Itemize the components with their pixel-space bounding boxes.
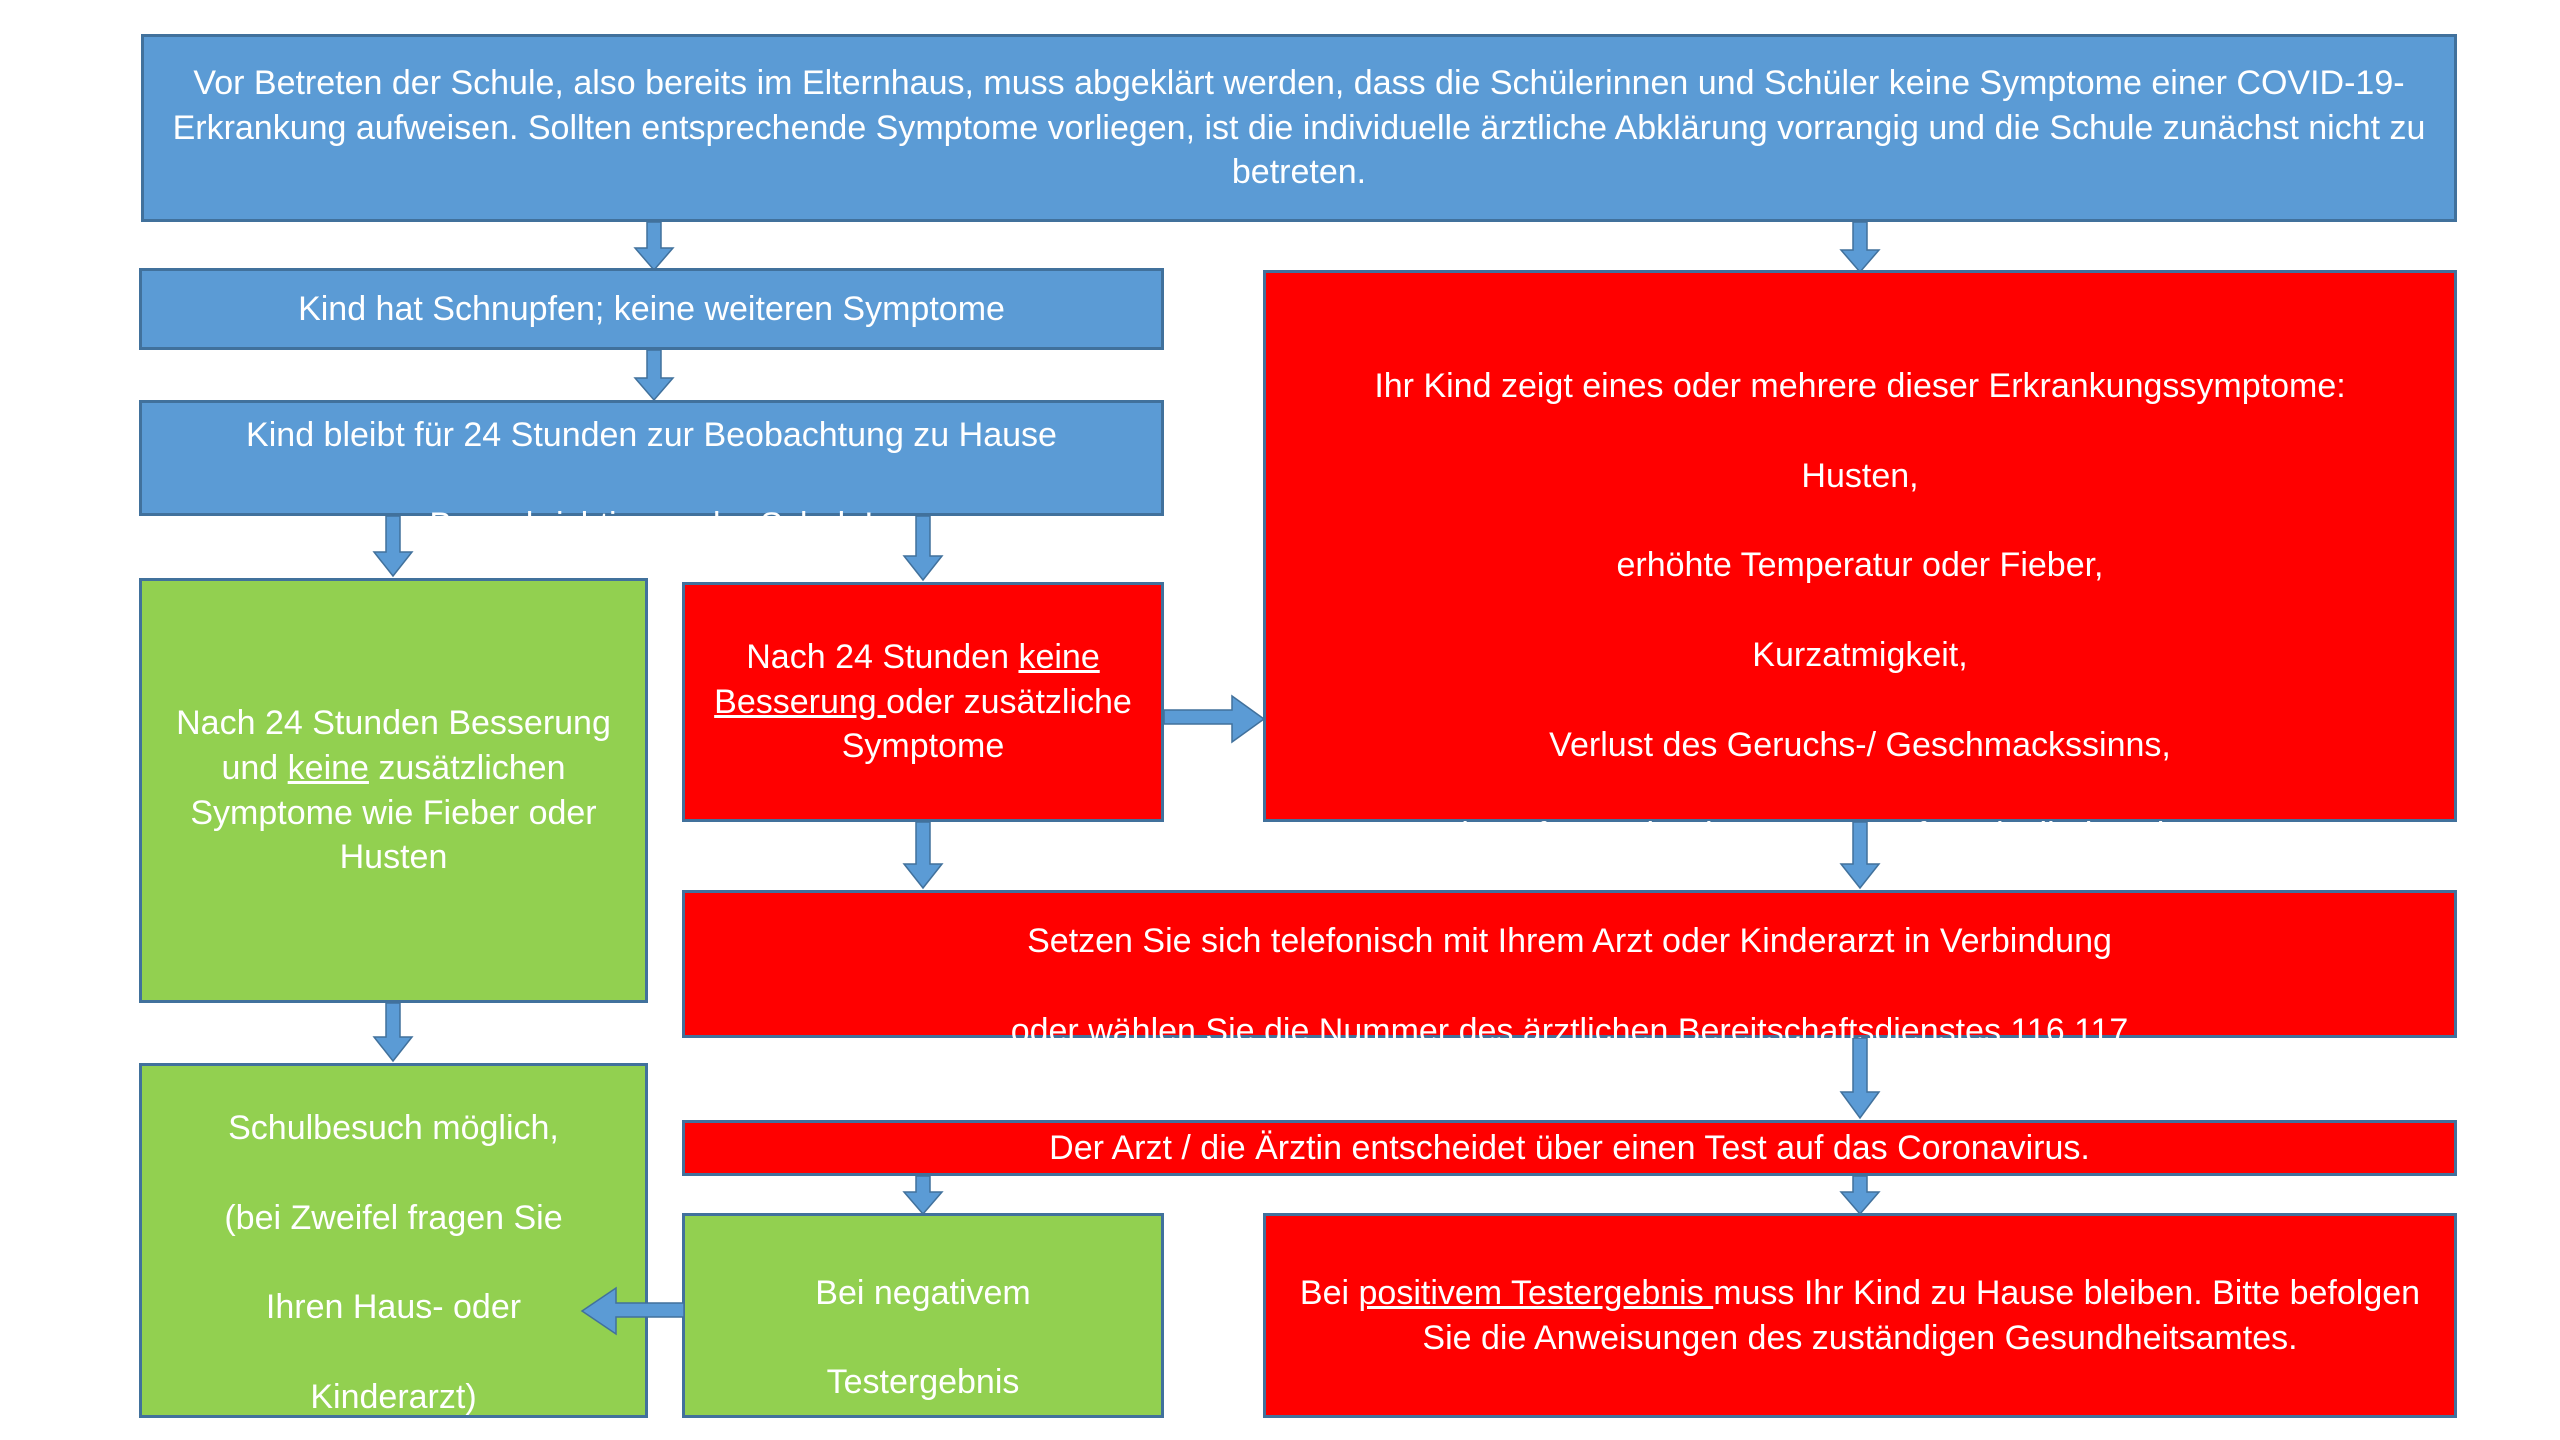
positiv-part1: Bei <box>1300 1274 1359 1312</box>
arzt-kontakt-line1: Setzen Sie sich telefonisch mit Ihrem Ar… <box>1027 922 2112 960</box>
node-besserung-keine-symptome: Nach 24 Stunden Besserung und keine zusä… <box>139 578 648 1003</box>
node-arzt-entscheidet-text: Der Arzt / die Ärztin entscheidet über e… <box>699 1126 2440 1171</box>
node-keine-besserung: Nach 24 Stunden keine Besserung oder zus… <box>682 582 1164 822</box>
arzt-kontakt-line2: oder wählen Sie die Nummer des ärztliche… <box>1011 1012 2129 1050</box>
node-arzt-kontakt-text: Setzen Sie sich telefonisch mit Ihrem Ar… <box>699 874 2440 1054</box>
symptome-item-2: Kurzatmigkeit, <box>1752 636 1967 674</box>
arrow-intro-to-symptome <box>1834 222 1886 274</box>
arrow-zuhause24-to-keine-besserung <box>897 516 949 582</box>
symptome-item-1: erhöhte Temperatur oder Fieber, <box>1617 546 2104 584</box>
arrow-intro-to-schnupfen <box>628 222 680 272</box>
zuhause24-line2: Benachrichtigung der Schule! <box>429 506 873 544</box>
keine-besserung-part2: oder zusätzliche Symptome <box>842 683 1132 766</box>
flowchart-canvas: Vor Betreten der Schule, also bereits im… <box>0 0 2560 1440</box>
node-bei-negativem-testergebnis-text: Bei negativem Testergebnis <box>699 1226 1147 1406</box>
arrow-arzt-entscheidet-to-negativ <box>897 1176 949 1216</box>
node-bei-negativem-testergebnis: Bei negativem Testergebnis <box>682 1213 1164 1418</box>
schulbesuch-line4: Kinderarzt) <box>310 1378 476 1416</box>
arrow-besserung-gruen-to-schulbesuch <box>367 1003 419 1063</box>
arrow-arzt-kontakt-to-arzt-entscheidet <box>1834 1038 1886 1120</box>
schulbesuch-line1: Schulbesuch möglich, <box>228 1109 559 1147</box>
positiv-underlined: positivem Testergebnis <box>1359 1274 1714 1312</box>
symptome-heading: Ihr Kind zeigt eines oder mehrere dieser… <box>1374 367 2345 405</box>
symptome-item-0: Husten, <box>1801 457 1918 495</box>
node-erkrankungssymptome: Ihr Kind zeigt eines oder mehrere dieser… <box>1263 270 2457 822</box>
node-bei-positivem-testergebnis: Bei positivem Testergebnis muss Ihr Kind… <box>1263 1213 2457 1418</box>
node-schulbesuch-moeglich-text: Schulbesuch möglich, (bei Zweifel fragen… <box>156 1061 631 1420</box>
zuhause24-line1: Kind bleibt für 24 Stunden zur Beobachtu… <box>246 416 1057 454</box>
node-bei-positivem-testergebnis-text: Bei positivem Testergebnis muss Ihr Kind… <box>1280 1271 2440 1361</box>
keine-besserung-part1: Nach 24 Stunden <box>746 638 1018 676</box>
arrow-arzt-entscheidet-to-positiv <box>1834 1176 1886 1216</box>
negativ-line1: Bei negativem <box>815 1274 1030 1312</box>
node-intro: Vor Betreten der Schule, also bereits im… <box>141 34 2457 222</box>
arrow-keine-besserung-to-symptome <box>1164 692 1266 746</box>
node-kind-bleibt-zuhause: Kind bleibt für 24 Stunden zur Beobachtu… <box>139 400 1164 516</box>
arrow-negativ-to-schulbesuch <box>580 1283 684 1339</box>
node-besserung-keine-symptome-text: Nach 24 Stunden Besserung und keine zusä… <box>156 701 631 881</box>
node-kind-bleibt-zuhause-text: Kind bleibt für 24 Stunden zur Beobachtu… <box>156 368 1147 548</box>
node-schulbesuch-moeglich: Schulbesuch möglich, (bei Zweifel fragen… <box>139 1063 648 1418</box>
negativ-line2: Testergebnis <box>827 1363 1020 1401</box>
node-intro-text: Vor Betreten der Schule, also bereits im… <box>158 61 2440 196</box>
schulbesuch-line2: (bei Zweifel fragen Sie <box>224 1199 562 1237</box>
node-arzt-kontakt: Setzen Sie sich telefonisch mit Ihrem Ar… <box>682 890 2457 1038</box>
node-kind-hat-schnupfen-text: Kind hat Schnupfen; keine weiteren Sympt… <box>156 287 1147 332</box>
node-arzt-entscheidet: Der Arzt / die Ärztin entscheidet über e… <box>682 1120 2457 1176</box>
arrow-zuhause24-to-besserung-gruen <box>367 516 419 578</box>
schulbesuch-line3: Ihren Haus- oder <box>266 1288 521 1326</box>
node-keine-besserung-text: Nach 24 Stunden keine Besserung oder zus… <box>699 635 1147 770</box>
besserung-underlined: keine <box>288 749 369 787</box>
symptome-item-3: Verlust des Geruchs-/ Geschmackssinns, <box>1549 726 2171 764</box>
node-kind-hat-schnupfen: Kind hat Schnupfen; keine weiteren Sympt… <box>139 268 1164 350</box>
